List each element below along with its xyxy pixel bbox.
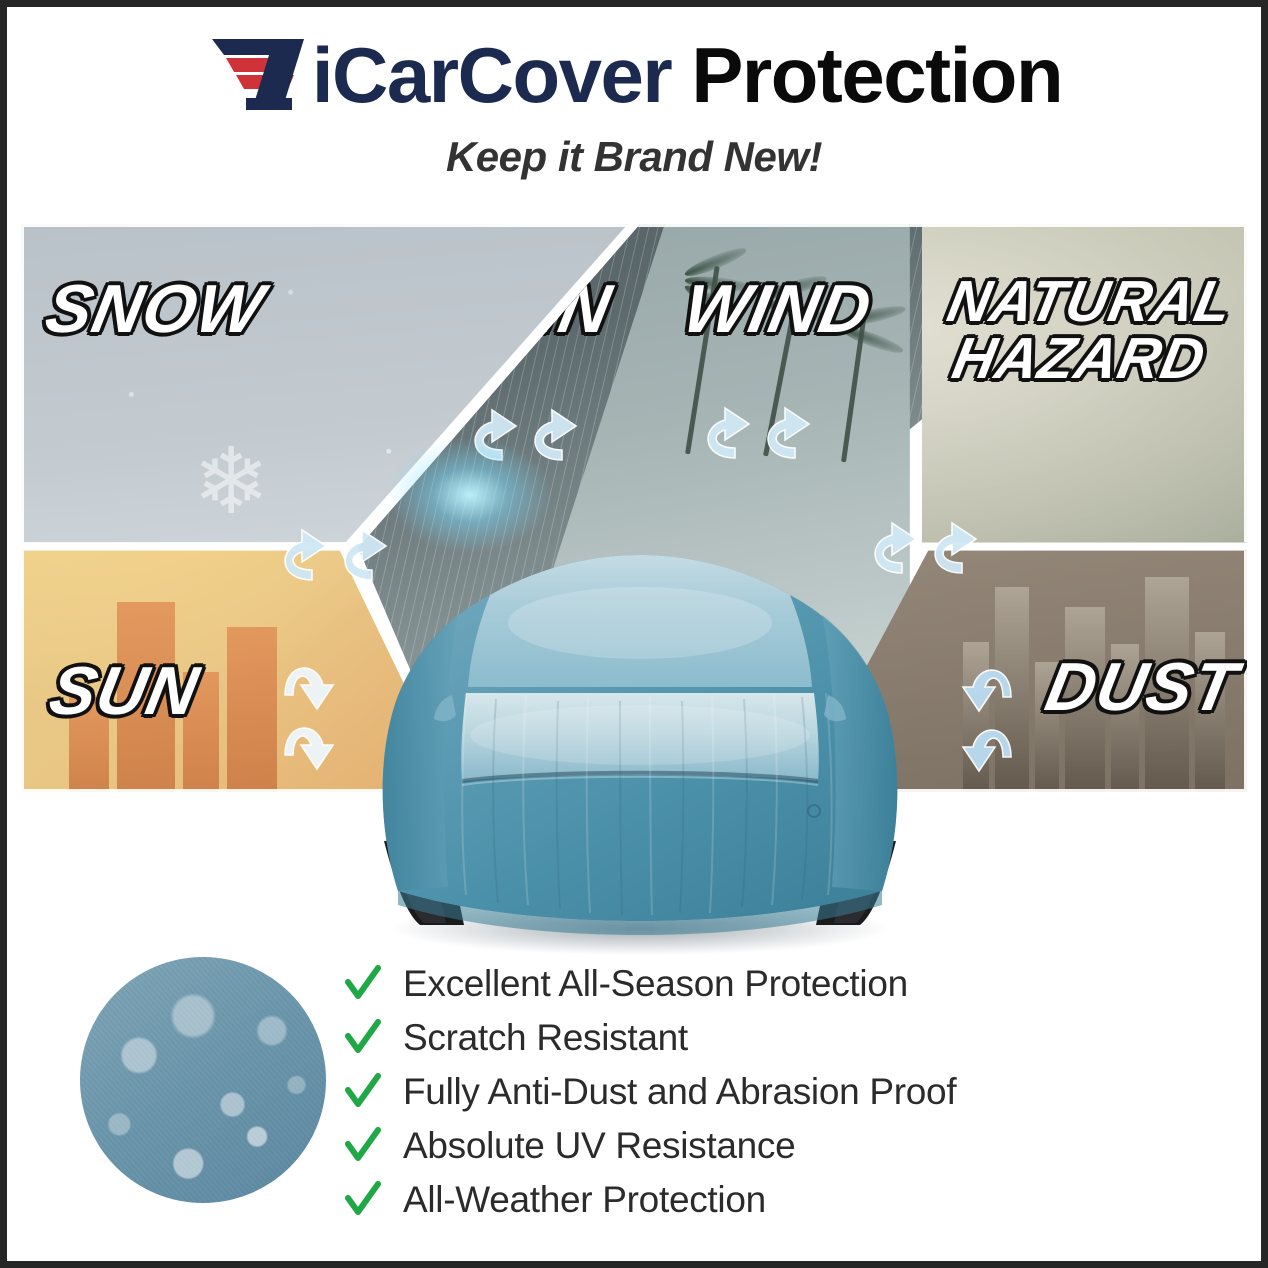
product-infographic: iCarCover Protection Keep it Brand New! … [0,0,1268,1268]
feature-list: Excellent All-Season Protection Scratch … [345,959,1165,1229]
list-item: Scratch Resistant [345,1013,1165,1063]
feature-label: All-Weather Protection [403,1179,766,1221]
brand-primary: iCarCover [312,31,671,119]
list-item: Excellent All-Season Protection [345,959,1165,1009]
brand-lockup: iCarCover Protection [7,29,1261,121]
panel-dust-label: DUST [1041,654,1243,721]
brand-title: iCarCover Protection [312,36,1062,114]
list-item: Fully Anti-Dust and Abrasion Proof [345,1067,1165,1117]
feature-label: Fully Anti-Dust and Abrasion Proof [403,1071,956,1113]
list-item: All-Weather Protection [345,1175,1165,1225]
check-icon [345,1073,381,1111]
water-beading-fabric-closeup [80,957,326,1203]
list-item: Absolute UV Resistance [345,1121,1165,1171]
check-icon [345,1181,381,1219]
brand-secondary: Protection [691,31,1062,119]
feature-label: Absolute UV Resistance [403,1125,795,1167]
feature-label: Excellent All-Season Protection [403,963,908,1005]
protection-collage: ❄ SNOW RAIN WIND NATURAL HAZAR [21,224,1247,792]
check-icon [345,1127,381,1165]
panel-snow-label: SNOW [41,276,269,343]
header: iCarCover Protection Keep it Brand New! [7,29,1261,181]
tagline: Keep it Brand New! [7,133,1261,181]
check-icon [345,1019,381,1057]
brand-secondary-spacer [671,31,691,119]
panel-wind-label: WIND [679,276,877,343]
shine-highlight [385,435,555,555]
icarcover-wing-logo-icon [206,36,318,114]
check-icon [345,965,381,1003]
panel-hazard-label: NATURAL HAZARD [932,274,1237,388]
feature-label: Scratch Resistant [403,1017,688,1059]
panel-sun-label: SUN [45,658,205,725]
